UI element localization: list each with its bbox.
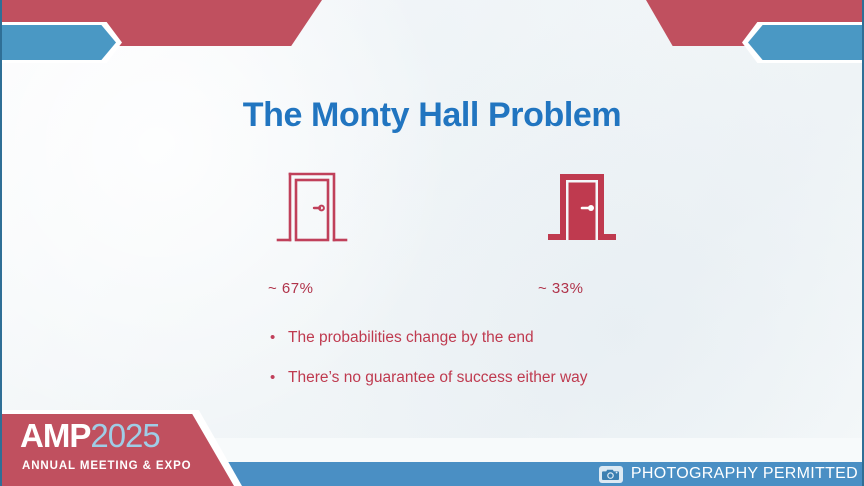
photography-permitted-label: PHOTOGRAPHY PERMITTED xyxy=(631,465,858,483)
camera-icon xyxy=(599,466,623,483)
logo-year-text: 2025 xyxy=(90,417,159,454)
logo-subtitle: ANNUAL MEETING & EXPO xyxy=(22,460,191,472)
top-right-blue-chevron xyxy=(748,25,864,60)
door-right xyxy=(527,168,637,253)
top-left-blue-chevron xyxy=(0,25,116,60)
probability-left: ~ 67% xyxy=(268,280,418,297)
probability-right: ~ 33% xyxy=(538,280,688,297)
presentation-slide: The Monty Hall Problem xyxy=(0,0,864,486)
logo-wordmark: AMP2025 xyxy=(20,419,160,452)
top-left-red-shape-inner xyxy=(182,0,322,46)
logo-amp-text: AMP xyxy=(20,417,90,454)
list-item: • The probabilities change by the end xyxy=(270,328,790,348)
door-filled-icon xyxy=(540,168,624,248)
door-left xyxy=(257,168,367,253)
camera-glyph xyxy=(602,468,620,481)
bullet-marker-icon: • xyxy=(270,368,288,388)
door-outline-icon xyxy=(270,168,354,248)
photography-permitted-banner: PHOTOGRAPHY PERMITTED xyxy=(599,462,858,486)
bullet-marker-icon: • xyxy=(270,328,288,348)
bullet-text: There’s no guarantee of success either w… xyxy=(288,368,588,388)
bullet-list: • The probabilities change by the end • … xyxy=(270,328,790,408)
list-item: • There’s no guarantee of success either… xyxy=(270,368,790,388)
slide-title: The Monty Hall Problem xyxy=(2,96,862,135)
bullet-text: The probabilities change by the end xyxy=(288,328,534,348)
